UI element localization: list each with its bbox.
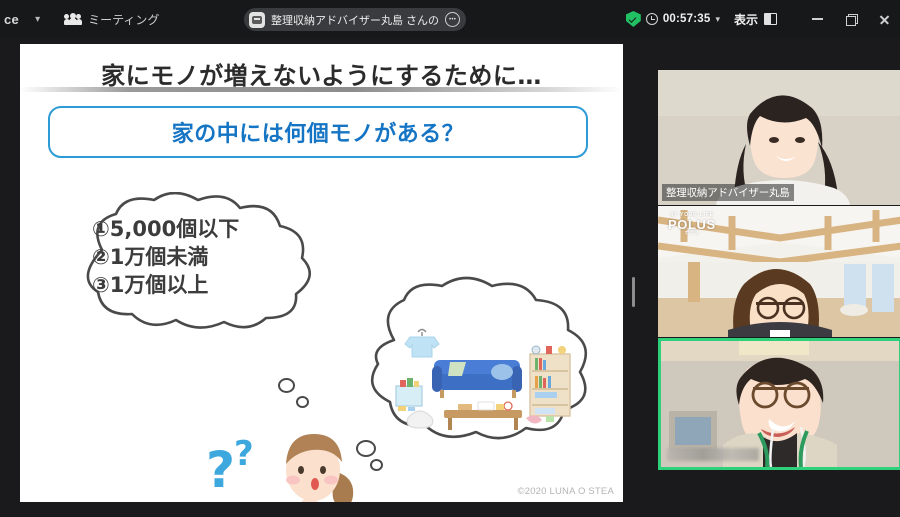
bubble-dot [296, 396, 309, 408]
question-box: 家の中には何個モノがある？ [48, 106, 588, 158]
cushion-icon [407, 411, 433, 428]
blurred-overlay [667, 448, 759, 461]
view-button-label: 表示 [734, 11, 758, 28]
watermark-bottom: ポラス [668, 231, 716, 236]
thinking-woman-illustration [265, 426, 370, 502]
toy-box-icon [396, 378, 422, 411]
zoom-meeting-window: ce ▾ ミーティング 整理収納アドバイザー丸島 さんの 00:57:35 ▾ [0, 0, 900, 517]
screen-share-label: 整理収納アドバイザー丸島 さんの [271, 12, 439, 28]
misc-item-icon [546, 416, 554, 422]
chevron-down-icon[interactable]: ▾ [715, 14, 720, 25]
restore-button[interactable] [834, 0, 867, 38]
title-bar: ce ▾ ミーティング 整理収納アドバイザー丸島 さんの 00:57:35 ▾ [0, 0, 900, 38]
polus-watermark: AT YOUR LIFE POLUS ポラス [668, 213, 716, 236]
coffee-table-icon [444, 402, 522, 430]
video-panel: 整理収納アドバイザー丸島 [658, 70, 900, 470]
meeting-tab-label: ミーティング [88, 11, 159, 28]
app-name-label: ce [4, 12, 19, 27]
screen-share-pill[interactable]: 整理収納アドバイザー丸島 さんの [244, 8, 466, 31]
page-title: 家にモノが増えないようにするために… [20, 44, 623, 91]
bubble-dot [278, 378, 295, 393]
question-box-text: 家の中には何個モノがある？ [172, 116, 465, 148]
hanging-clothes-icon [405, 330, 439, 358]
close-button[interactable] [867, 0, 900, 38]
shield-check-icon[interactable] [626, 11, 641, 27]
option-1: ①5,000個以下 [92, 216, 337, 244]
shared-slide[interactable]: 家にモノが増えないようにするために… 家の中には何個モノがある？ ①5,000個… [20, 44, 623, 502]
restore-icon [846, 14, 856, 24]
participant-name-label: 整理収納アドバイザー丸島 [662, 184, 794, 201]
option-3: ③1万個以上 [92, 272, 337, 300]
clock-icon [646, 13, 658, 25]
svg-text:?: ? [234, 434, 254, 474]
titlebar-left-group: ce ▾ ミーティング [0, 0, 159, 38]
answer-options: ①5,000個以下 ②1万個未満 ③1万個以上 [92, 216, 337, 300]
panel-resize-handle[interactable] [630, 277, 636, 307]
video-tile-1[interactable]: 整理収納アドバイザー丸島 [658, 70, 900, 205]
option-2: ②1万個未満 [92, 244, 337, 272]
sofa-icon [432, 360, 522, 398]
people-icon [64, 13, 81, 26]
chevron-down-icon[interactable]: ▾ [35, 14, 40, 25]
minimize-button[interactable] [801, 0, 834, 38]
copyright-text: ©2020 LUNA O STEA [518, 486, 614, 497]
view-button[interactable]: 表示 [734, 11, 777, 28]
meeting-tab[interactable]: ミーティング [64, 11, 159, 28]
titlebar-right-group: 00:57:35 ▾ 表示 [626, 0, 900, 38]
more-options-icon[interactable] [445, 12, 460, 27]
bubble-dot [370, 459, 383, 471]
title-divider [20, 87, 623, 92]
watermark-top: AT YOUR LIFE [668, 213, 716, 218]
timer-value: 00:57:35 [663, 13, 711, 25]
layout-icon [764, 13, 777, 25]
screen-share-icon [249, 12, 265, 28]
minimize-icon [812, 18, 823, 20]
bookshelf-icon [530, 346, 570, 416]
room-illustration [390, 322, 575, 442]
close-icon [879, 15, 888, 24]
svg-text:?: ? [206, 441, 235, 499]
video-tile-3-active-speaker[interactable] [658, 338, 900, 470]
video-tile-2[interactable]: AT YOUR LIFE POLUS ポラス [658, 206, 900, 337]
meeting-timer[interactable]: 00:57:35 ▾ [626, 11, 720, 27]
